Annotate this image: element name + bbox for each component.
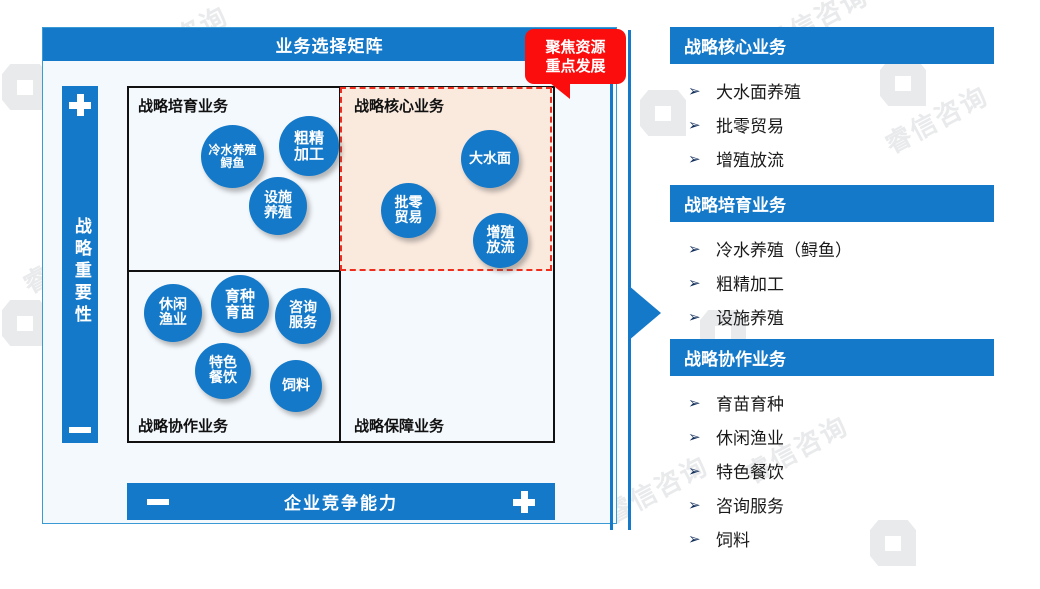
bubble-label-line2: 放流 bbox=[487, 240, 515, 256]
bullet-arrow-icon: ➢ bbox=[688, 394, 716, 412]
quadrant-label-bottom-right: 战略保障业务 bbox=[354, 415, 444, 436]
panel-core-business: 战略核心业务 ➢ 大水面养殖 ➢ 批零贸易 ➢ 增殖放流 bbox=[670, 27, 994, 171]
bubble-breeding-seedling[interactable]: 育种 育苗 bbox=[211, 275, 269, 333]
bubble-label-line2: 加工 bbox=[294, 145, 324, 163]
panel-cultivation-business: 战略培育业务 ➢ 冷水养殖（鲟鱼） ➢ 粗精加工 ➢ 设施养殖 bbox=[670, 185, 994, 329]
bullet-arrow-icon: ➢ bbox=[688, 82, 716, 100]
list-item-label: 冷水养殖（鲟鱼） bbox=[716, 236, 852, 261]
bubble-leisure-fishery[interactable]: 休闲 渔业 bbox=[144, 284, 202, 342]
list-item-label: 休闲渔业 bbox=[716, 424, 784, 449]
bubble-label-line2: 餐饮 bbox=[209, 370, 237, 386]
bullet-arrow-icon: ➢ bbox=[688, 428, 716, 446]
matrix-grid: 战略培育业务 战略核心业务 战略协作业务 战略保障业务 冷水养殖 鲟鱼 粗精 加… bbox=[127, 86, 555, 443]
bubble-label-line1: 大水面 bbox=[469, 152, 511, 167]
list-item[interactable]: ➢ 增殖放流 bbox=[688, 146, 994, 171]
list-item[interactable]: ➢ 批零贸易 bbox=[688, 112, 994, 137]
bubble-consulting-service[interactable]: 咨询 服务 bbox=[275, 288, 331, 344]
quadrant-label-top-right: 战略核心业务 bbox=[354, 95, 444, 116]
bubble-stock-enhancement[interactable]: 增殖 放流 bbox=[473, 213, 528, 268]
bullet-arrow-icon: ➢ bbox=[688, 116, 716, 134]
list-item-label: 粗精加工 bbox=[716, 270, 784, 295]
bubble-label-line2: 贸易 bbox=[395, 210, 423, 226]
list-item-label: 大水面养殖 bbox=[716, 78, 801, 103]
panel-title: 战略核心业务 bbox=[670, 27, 994, 64]
list-item-label: 设施养殖 bbox=[716, 304, 784, 329]
panel-title: 战略协作业务 bbox=[670, 339, 994, 376]
panel-collaboration-business: 战略协作业务 ➢ 育苗育种 ➢ 休闲渔业 ➢ 特色餐饮 ➢ 咨询服务 bbox=[670, 339, 994, 551]
list-item[interactable]: ➢ 咨询服务 bbox=[688, 492, 994, 517]
connector-line bbox=[610, 30, 613, 530]
quadrant-label-top-left: 战略培育业务 bbox=[138, 95, 228, 116]
panel-item-list: ➢ 大水面养殖 ➢ 批零贸易 ➢ 增殖放流 bbox=[670, 64, 994, 171]
bubble-wholesale-retail-trade[interactable]: 批零 贸易 bbox=[381, 183, 436, 238]
plus-icon bbox=[513, 491, 535, 513]
bubble-label-line1: 增殖 bbox=[487, 225, 515, 241]
bubble-label-line2: 鲟鱼 bbox=[220, 156, 244, 170]
list-item[interactable]: ➢ 特色餐饮 bbox=[688, 458, 994, 483]
bubble-label-line1: 设施 bbox=[264, 190, 292, 206]
callout-line1: 聚焦资源 bbox=[545, 38, 605, 56]
bubble-label-line1: 批零 bbox=[395, 195, 423, 211]
bubble-processing[interactable]: 粗精 加工 bbox=[279, 116, 339, 176]
x-axis-label: 企业竞争能力 bbox=[284, 489, 398, 514]
bubble-label-line1: 特色 bbox=[209, 355, 237, 371]
bubble-label-line2: 服务 bbox=[289, 315, 317, 331]
list-item-label: 饲料 bbox=[716, 526, 750, 551]
bubble-label-line1: 休闲 bbox=[159, 297, 187, 313]
bubble-label-line2: 养殖 bbox=[264, 205, 292, 221]
list-item-label: 咨询服务 bbox=[716, 492, 784, 517]
bubble-facility-farming[interactable]: 设施 养殖 bbox=[249, 177, 307, 235]
list-item[interactable]: ➢ 粗精加工 bbox=[688, 270, 994, 295]
connector-arrow bbox=[605, 30, 675, 530]
list-item-label: 育苗育种 bbox=[716, 390, 784, 415]
list-item[interactable]: ➢ 设施养殖 bbox=[688, 304, 994, 329]
bullet-arrow-icon: ➢ bbox=[688, 530, 716, 548]
panel-item-list: ➢ 冷水养殖（鲟鱼） ➢ 粗精加工 ➢ 设施养殖 bbox=[670, 222, 994, 329]
quadrant-label-bottom-left: 战略协作业务 bbox=[138, 415, 228, 436]
bullet-arrow-icon: ➢ bbox=[688, 308, 716, 326]
y-axis-label: 战略重要性 bbox=[69, 217, 91, 327]
panel-item-list: ➢ 育苗育种 ➢ 休闲渔业 ➢ 特色餐饮 ➢ 咨询服务 ➢ 饲料 bbox=[670, 376, 994, 551]
matrix-card: 业务选择矩阵 战略重要性 战略培育业务 战略核心业务 战略协作业务 战略保障业务… bbox=[42, 27, 617, 524]
list-item-label: 特色餐饮 bbox=[716, 458, 784, 483]
callout-line2: 重点发展 bbox=[545, 57, 605, 75]
minus-icon bbox=[147, 499, 169, 505]
list-item-label: 批零贸易 bbox=[716, 112, 784, 137]
bullet-arrow-icon: ➢ bbox=[688, 240, 716, 258]
bullet-arrow-icon: ➢ bbox=[688, 274, 716, 292]
list-item[interactable]: ➢ 大水面养殖 bbox=[688, 78, 994, 103]
x-axis: 企业竞争能力 bbox=[127, 483, 555, 520]
slide-canvas: 睿信咨询 睿信咨询 睿信咨询 睿信咨询 睿信咨询 睿信咨询 业务选择矩阵 战略重… bbox=[0, 0, 1040, 589]
bullet-arrow-icon: ➢ bbox=[688, 496, 716, 514]
bubble-specialty-catering[interactable]: 特色 餐饮 bbox=[195, 343, 251, 399]
minus-icon bbox=[69, 427, 91, 433]
focus-callout: 聚焦资源 重点发展 bbox=[525, 29, 626, 84]
bubble-cold-water-aquaculture[interactable]: 冷水养殖 鲟鱼 bbox=[201, 125, 264, 188]
bubble-large-water-surface[interactable]: 大水面 bbox=[461, 130, 519, 188]
list-item-label: 增殖放流 bbox=[716, 146, 784, 171]
bullet-arrow-icon: ➢ bbox=[688, 462, 716, 480]
panel-title: 战略培育业务 bbox=[670, 185, 994, 222]
y-axis: 战略重要性 bbox=[62, 86, 98, 443]
bullet-arrow-icon: ➢ bbox=[688, 150, 716, 168]
list-item[interactable]: ➢ 饲料 bbox=[688, 526, 994, 551]
connector-line bbox=[628, 30, 631, 530]
bubble-label-line2: 育苗 bbox=[225, 303, 255, 321]
bubble-feed[interactable]: 饲料 bbox=[270, 360, 322, 412]
business-category-panels: 战略核心业务 ➢ 大水面养殖 ➢ 批零贸易 ➢ 增殖放流 战略培育业务 bbox=[670, 27, 994, 587]
bubble-label-line2: 渔业 bbox=[159, 312, 187, 328]
bubble-label-line1: 咨询 bbox=[289, 300, 317, 316]
arrow-right-icon bbox=[628, 285, 661, 341]
list-item[interactable]: ➢ 育苗育种 bbox=[688, 390, 994, 415]
list-item[interactable]: ➢ 冷水养殖（鲟鱼） bbox=[688, 236, 994, 261]
list-item[interactable]: ➢ 休闲渔业 bbox=[688, 424, 994, 449]
plus-icon bbox=[69, 94, 91, 116]
bubble-label-line1: 饲料 bbox=[282, 379, 310, 394]
